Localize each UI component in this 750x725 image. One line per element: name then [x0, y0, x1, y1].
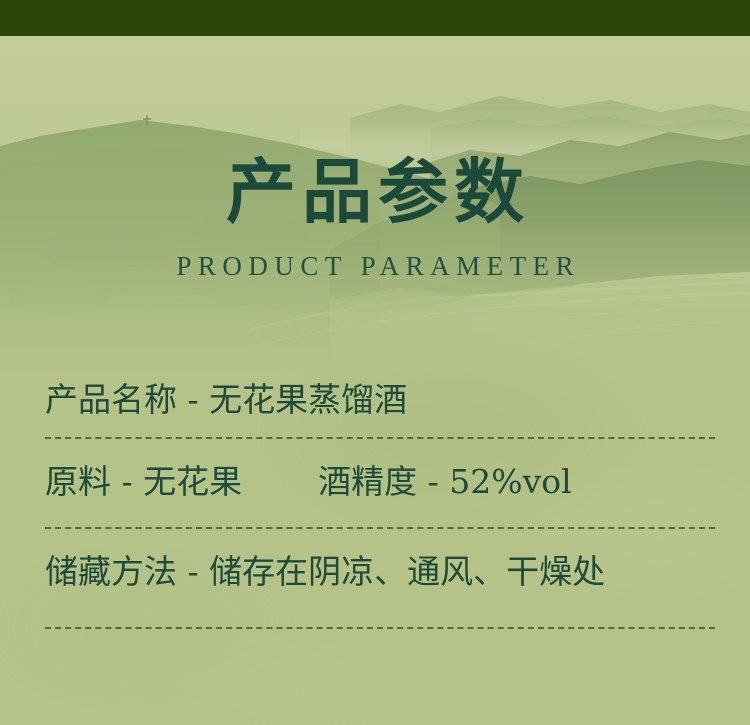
page-title: 产品参数	[0, 150, 750, 234]
product-parameter-page: 产品参数 PRODUCT PARAMETER 产品名称 - 无花果蒸馏酒 原料 …	[0, 0, 750, 725]
parameter-material: 原料 - 无花果	[45, 460, 242, 504]
page-heading: 产品参数 PRODUCT PARAMETER	[0, 150, 750, 282]
top-accent-bar	[0, 0, 750, 36]
parameter-row-storage: 储藏方法 - 储存在阴凉、通风、干燥处	[45, 527, 715, 617]
parameter-row-material-alcohol: 原料 - 无花果 酒精度 - 52%vol	[45, 437, 715, 527]
parameter-divider-3	[45, 627, 715, 629]
parameter-storage-method: 储藏方法 - 储存在阴凉、通风、干燥处	[45, 550, 605, 594]
parameter-row-product-name: 产品名称 - 无花果蒸馏酒	[45, 363, 715, 437]
page-subtitle: PRODUCT PARAMETER	[0, 250, 750, 282]
parameter-list: 产品名称 - 无花果蒸馏酒 原料 - 无花果 酒精度 - 52%vol 储藏方法…	[45, 363, 715, 617]
parameter-product-name: 产品名称 - 无花果蒸馏酒	[45, 378, 407, 422]
parameter-alcohol-content: 酒精度 - 52%vol	[318, 460, 572, 504]
